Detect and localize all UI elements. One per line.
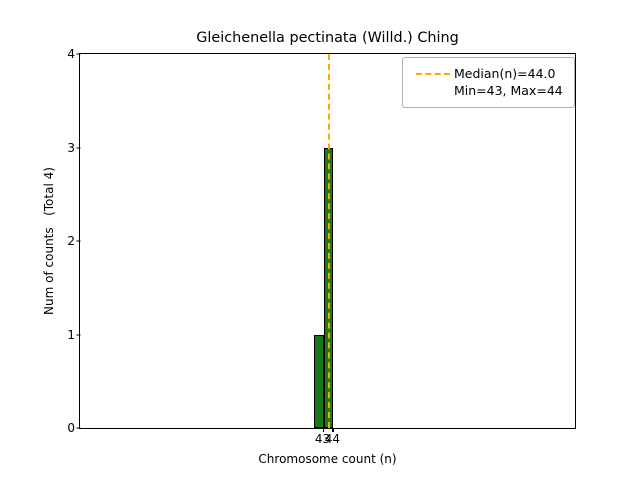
legend-entry-minmax: Min=43, Max=44 — [412, 82, 565, 99]
x-axis-label: Chromosome count (n) — [79, 452, 576, 466]
median-dash-icon — [416, 73, 450, 75]
ytick-mark — [77, 334, 81, 335]
legend-box: Median(n)=44.0 Min=43, Max=44 — [402, 57, 575, 108]
legend-swatch-cell — [412, 73, 454, 75]
figure-canvas: Gleichenella pectinata (Willd.) Ching 0 … — [0, 0, 640, 480]
ytick-label: 1 — [67, 329, 75, 341]
ytick-label: 3 — [67, 142, 75, 154]
ytick-mark — [77, 147, 81, 148]
xtick-mark — [332, 428, 333, 432]
xtick-mark — [323, 428, 324, 432]
legend-entry-median: Median(n)=44.0 — [412, 65, 565, 82]
legend-label-minmax: Min=43, Max=44 — [454, 82, 563, 99]
ytick-label: 0 — [67, 422, 75, 434]
ytick-mark — [77, 428, 81, 429]
legend-label-median: Median(n)=44.0 — [454, 65, 555, 82]
ytick-mark — [77, 54, 81, 55]
chart-title: Gleichenella pectinata (Willd.) Ching — [79, 30, 576, 47]
ytick-label: 2 — [67, 235, 75, 247]
ytick-label: 4 — [67, 48, 75, 60]
ytick-mark — [77, 241, 81, 242]
xtick-label: 44 — [325, 433, 340, 446]
y-axis-label: Num of counts (Total 4) — [38, 53, 60, 429]
plot-area: 0 1 2 3 4 43 44 — [79, 53, 576, 429]
median-line — [328, 54, 330, 428]
median-line-layer — [80, 54, 575, 428]
